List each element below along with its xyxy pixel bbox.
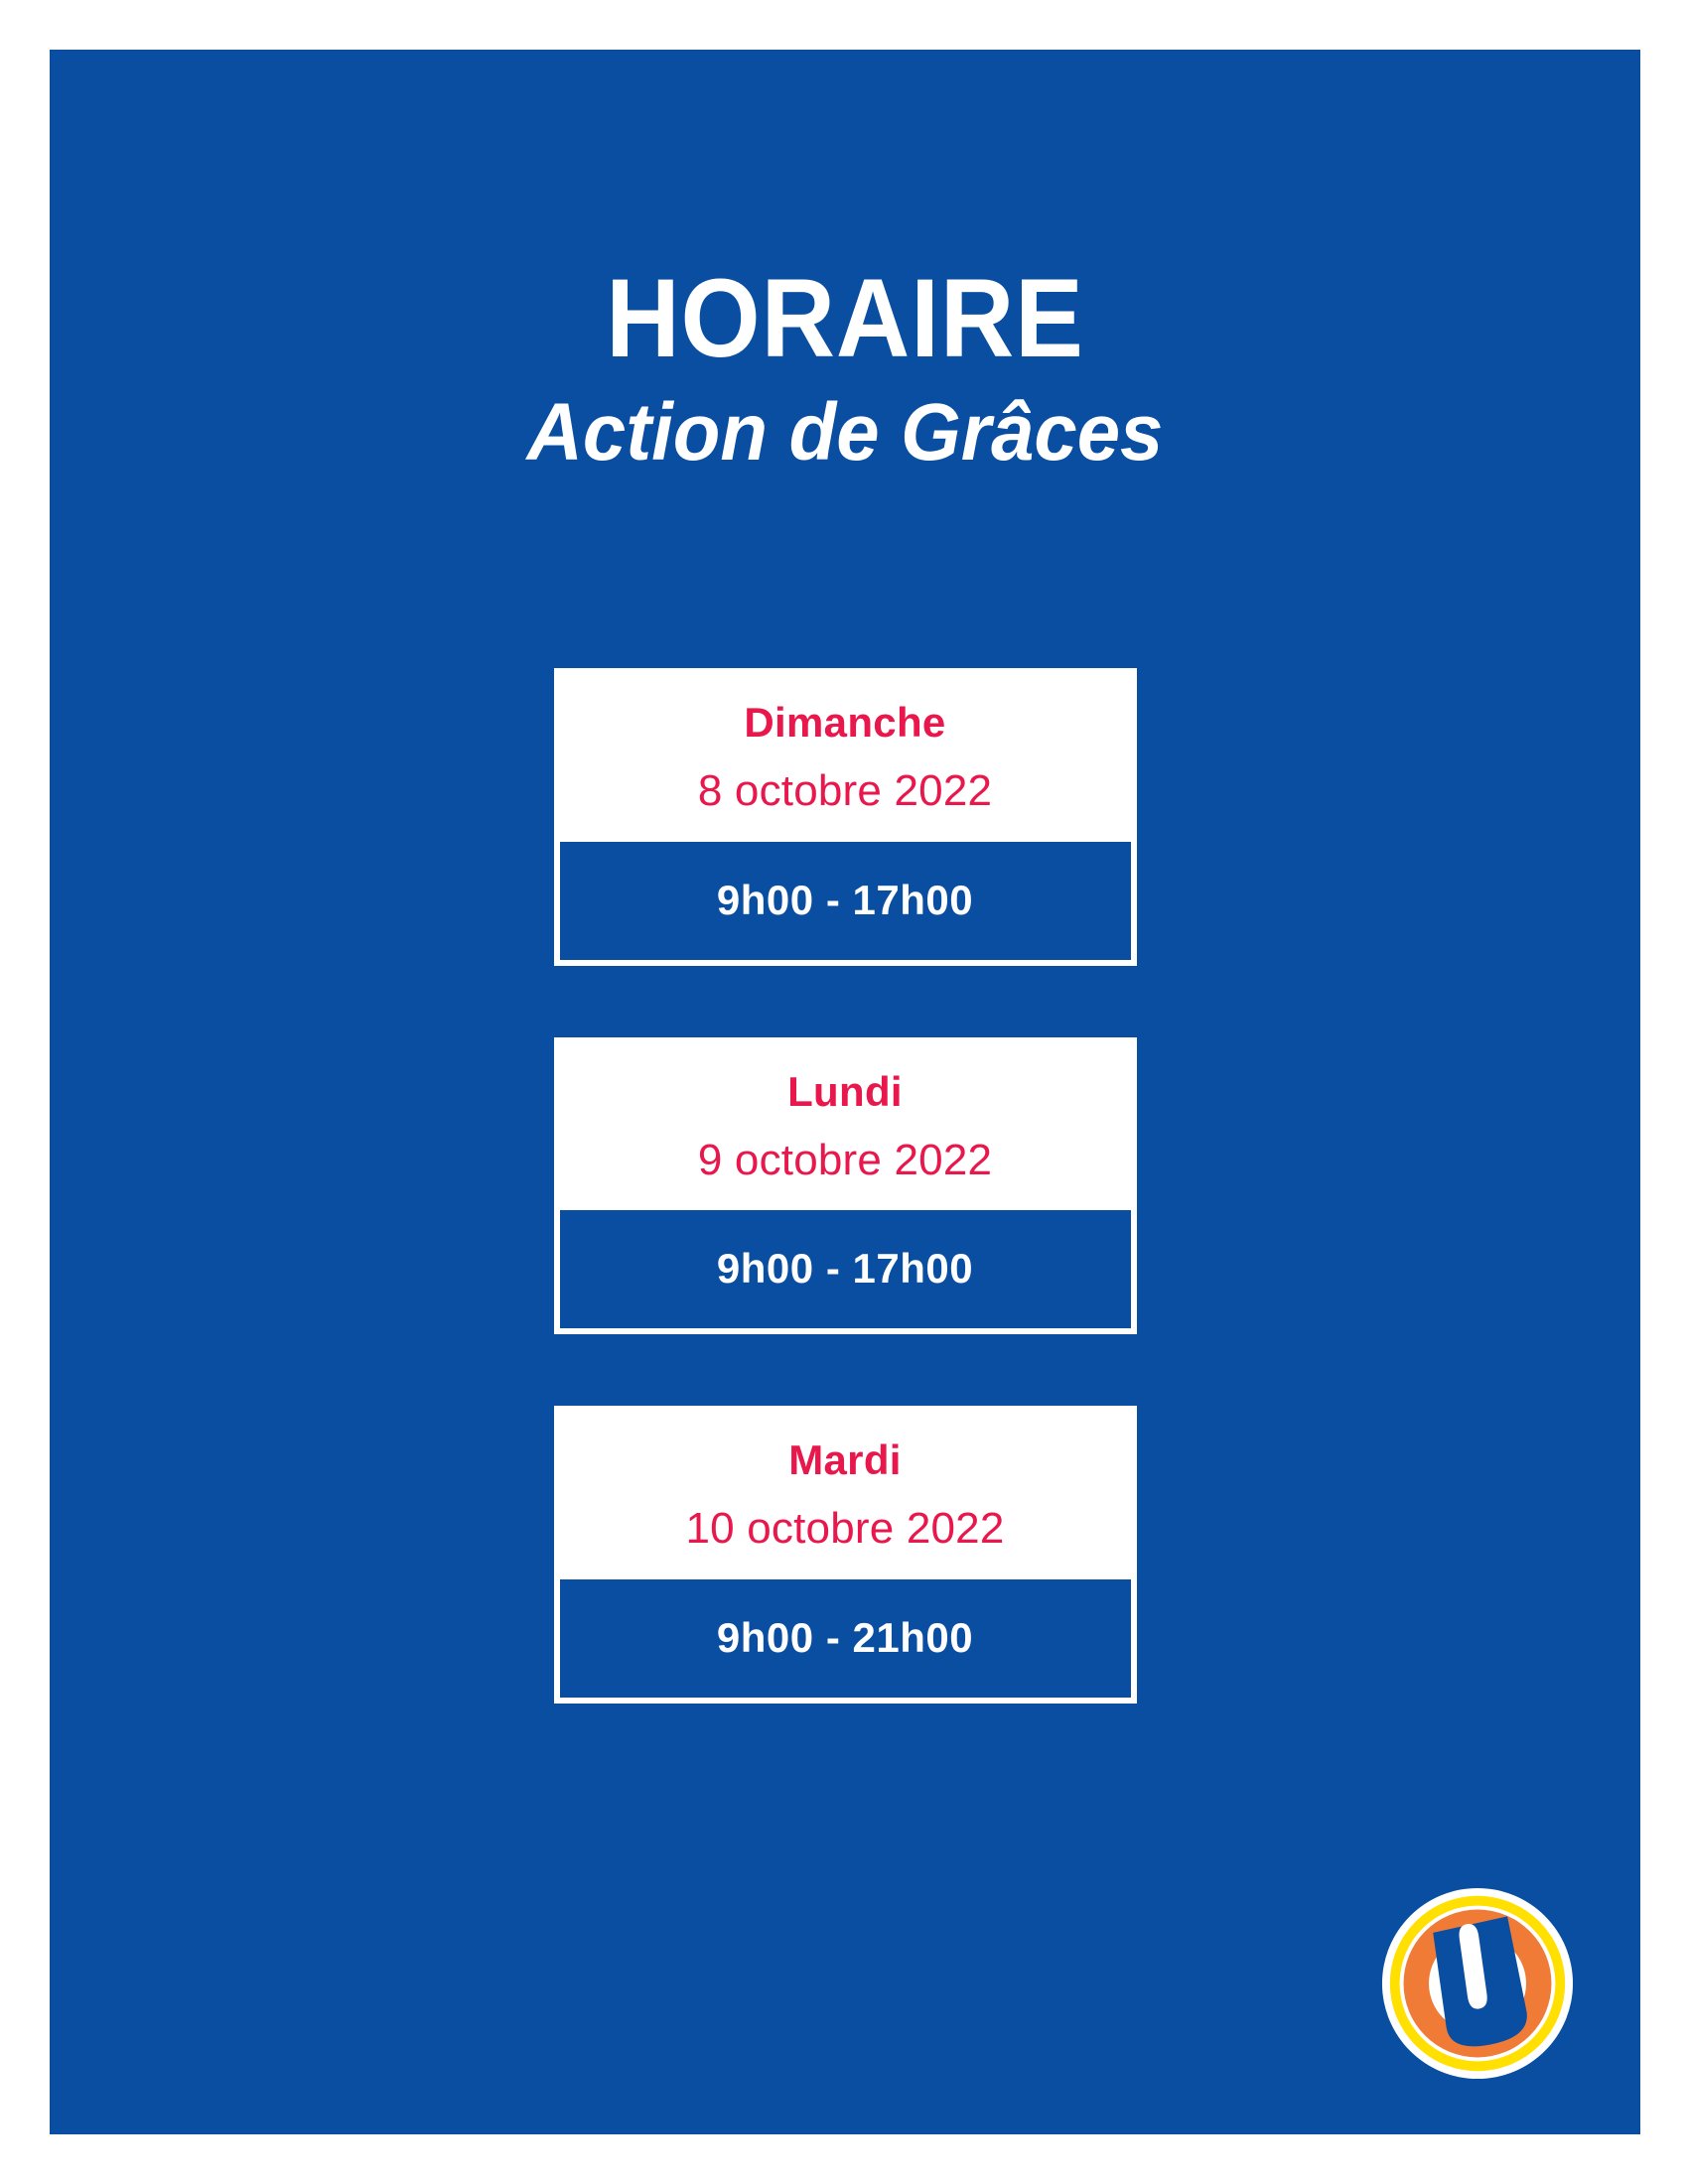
u-roundel-logo-icon — [1380, 1886, 1575, 2081]
schedule-card: Dimanche 8 octobre 2022 9h00 - 17h00 — [554, 668, 1137, 966]
schedule-card-header: Mardi 10 octobre 2022 — [560, 1412, 1131, 1579]
schedule-hours-label: 9h00 - 17h00 — [560, 1210, 1131, 1328]
schedule-card: Lundi 9 octobre 2022 9h00 - 17h00 — [554, 1037, 1137, 1335]
schedule-date-label: 10 octobre 2022 — [574, 1505, 1117, 1553]
schedule-card: Mardi 10 octobre 2022 9h00 - 21h00 — [554, 1406, 1137, 1704]
schedule-card-header: Lundi 9 octobre 2022 — [560, 1043, 1131, 1211]
schedule-day-label: Mardi — [574, 1437, 1117, 1483]
page-subtitle: Action de Grâces — [89, 386, 1601, 479]
page-title: HORAIRE — [113, 263, 1577, 374]
poster-canvas: HORAIRE Action de Grâces Dimanche 8 octo… — [50, 50, 1640, 2134]
schedule-date-label: 8 octobre 2022 — [574, 767, 1117, 815]
schedule-hours-label: 9h00 - 21h00 — [560, 1579, 1131, 1698]
schedule-card-header: Dimanche 8 octobre 2022 — [560, 674, 1131, 842]
schedule-hours-label: 9h00 - 17h00 — [560, 842, 1131, 960]
schedule-date-label: 9 octobre 2022 — [574, 1137, 1117, 1184]
poster-header: HORAIRE Action de Grâces — [50, 263, 1640, 479]
schedule-list: Dimanche 8 octobre 2022 9h00 - 17h00 Lun… — [50, 668, 1640, 1704]
schedule-day-label: Lundi — [574, 1069, 1117, 1115]
schedule-day-label: Dimanche — [574, 700, 1117, 746]
